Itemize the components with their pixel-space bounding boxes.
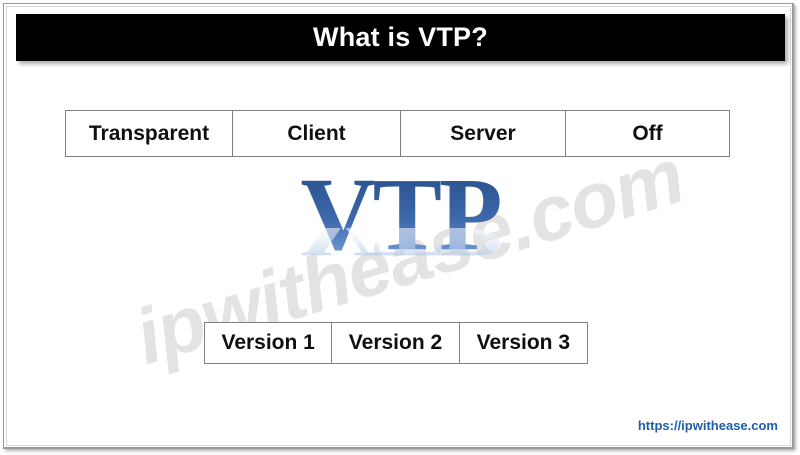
vtp-version-table: Version 1 Version 2 Version 3: [204, 322, 588, 364]
vtp-mode-cell-transparent[interactable]: Transparent: [66, 111, 233, 156]
vtp-mode-cell-client[interactable]: Client: [233, 111, 401, 156]
vtp-version-cell-1[interactable]: Version 1: [205, 323, 332, 363]
slide-inner-frame: [6, 6, 791, 446]
page-title: What is VTP?: [313, 24, 488, 51]
vtp-mode-cell-server[interactable]: Server: [401, 111, 566, 156]
vtp-version-cell-2[interactable]: Version 2: [332, 323, 459, 363]
vtp-version-cell-3[interactable]: Version 3: [460, 323, 587, 363]
slide-canvas: What is VTP? ipwithease.com Transparent …: [0, 0, 800, 455]
footer-url[interactable]: https://ipwithease.com: [638, 418, 778, 433]
vtp-mode-table: Transparent Client Server Off: [65, 110, 730, 157]
title-banner: What is VTP?: [16, 14, 785, 61]
vtp-mode-cell-off[interactable]: Off: [566, 111, 729, 156]
